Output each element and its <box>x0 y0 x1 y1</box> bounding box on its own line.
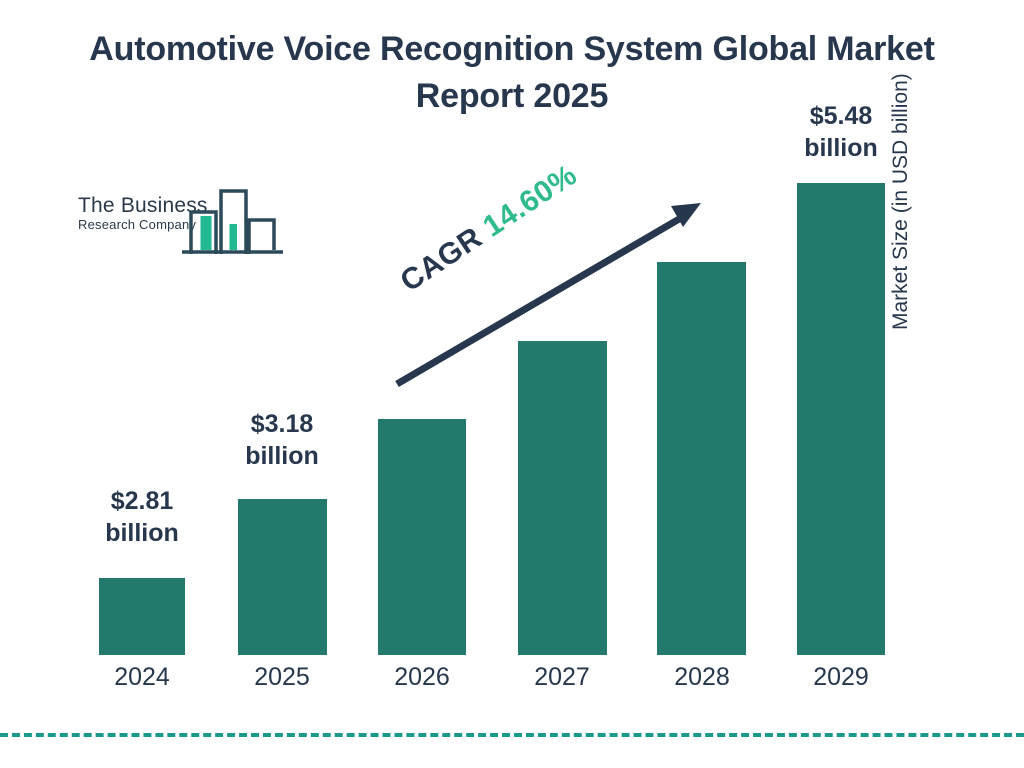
chart-canvas: Automotive Voice Recognition System Glob… <box>0 0 1024 768</box>
bar-chart-plot: $2.81 billion $3.18 billion $5.48 billio… <box>0 0 1024 768</box>
growth-arrow-icon <box>0 0 1024 768</box>
footer-divider <box>0 733 1024 737</box>
y-axis-title: Market Size (in USD billion) <box>889 0 913 330</box>
